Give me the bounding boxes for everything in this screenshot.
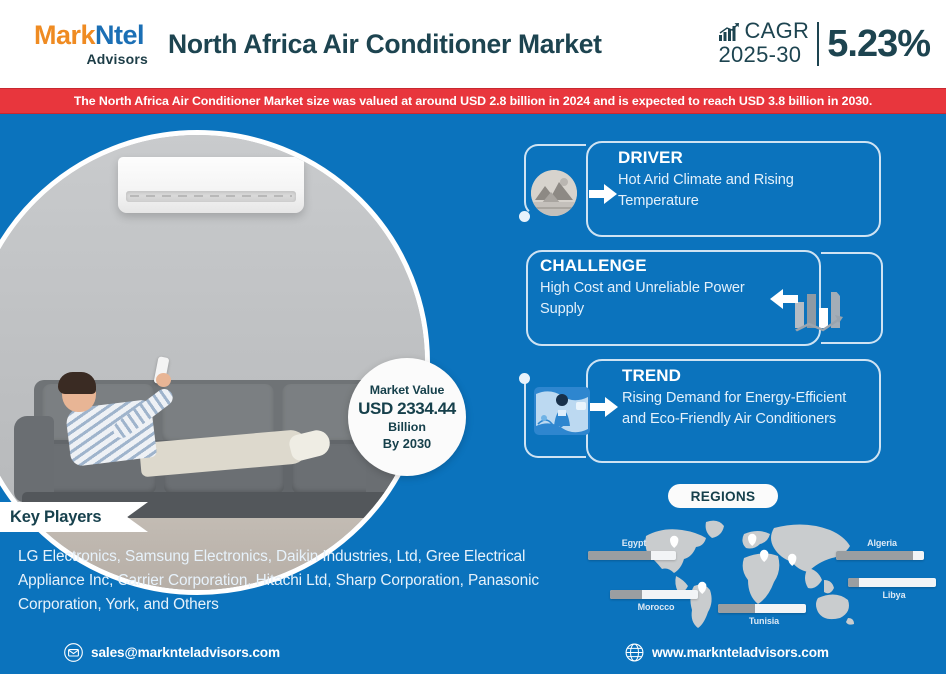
region-bar-fill — [588, 551, 651, 560]
region-egypt[interactable]: Egypt — [588, 538, 680, 560]
air-conditioner-vent — [126, 191, 296, 202]
trend-text-group: TREND Rising Demand for Energy-Efficient… — [622, 366, 874, 429]
region-bar-fill — [718, 604, 755, 613]
logo[interactable]: MarkNtel Advisors — [0, 21, 152, 66]
driver-text-group: DRIVER Hot Arid Climate and Rising Tempe… — [618, 148, 868, 211]
region-bar-fill — [610, 590, 642, 599]
footer-website[interactable]: www.marknteladvisors.com — [625, 643, 829, 662]
market-value-label: Market Value — [370, 383, 445, 397]
challenge-text-group: CHALLENGE High Cost and Unreliable Power… — [540, 256, 790, 319]
energy-efficiency-illustration-icon — [532, 384, 592, 438]
driver-heading: DRIVER — [618, 148, 868, 168]
region-bar-fill — [836, 551, 913, 560]
trend-heading: TREND — [622, 366, 874, 386]
region-algeria[interactable]: Algeria — [836, 538, 928, 560]
logo-part-mark: Mark — [34, 20, 95, 50]
trend-connector-dot — [519, 373, 530, 384]
footer: sales@marknteladvisors.com www.markntela… — [0, 632, 946, 674]
regions-map: Egypt Algeria Morocco Tunisia Libya — [570, 512, 946, 634]
person-hair — [58, 372, 96, 394]
trend-body: Rising Demand for Energy-Efficient and E… — [622, 388, 874, 429]
header: MarkNtel Advisors North Africa Air Condi… — [0, 0, 946, 88]
cagr-value: 5.23% — [827, 23, 930, 66]
market-value-unit: Billion — [388, 420, 426, 434]
cagr-period: 2025-30 — [718, 43, 801, 67]
arrow-right-icon — [589, 184, 617, 204]
regions-title-pill: REGIONS — [668, 484, 778, 508]
page-title: North Africa Air Conditioner Market — [152, 29, 718, 60]
market-size-banner: The North Africa Air Conditioner Market … — [0, 88, 946, 114]
region-label: Tunisia — [718, 616, 810, 626]
market-value-amount: USD 2334.44 — [358, 399, 456, 419]
region-label: Morocco — [610, 602, 702, 612]
logo-wordmark: MarkNtel — [34, 21, 144, 49]
globe-icon — [625, 643, 644, 662]
region-libya[interactable]: Libya — [848, 578, 940, 600]
arrow-right-icon — [590, 397, 618, 417]
key-players-list: LG Electronics, Samsung Electronics, Dai… — [18, 545, 568, 617]
cagr-divider — [817, 22, 819, 66]
region-tunisia[interactable]: Tunisia — [718, 604, 810, 626]
market-value-year: By 2030 — [383, 436, 431, 451]
cagr-label: CAGR — [744, 20, 809, 42]
sofa-arm-left — [14, 416, 54, 502]
region-bar-fill — [848, 578, 859, 587]
driver-connector-dot — [519, 211, 530, 222]
key-players-tag: Key Players — [0, 502, 148, 532]
logo-part-ntel: Ntel — [95, 20, 144, 50]
footer-website-text: www.marknteladvisors.com — [652, 645, 829, 660]
region-bar[interactable] — [848, 578, 936, 587]
cagr-label-row: CAGR — [718, 20, 809, 42]
cagr-label-group: CAGR 2025-30 — [718, 20, 809, 67]
market-size-banner-text: The North Africa Air Conditioner Market … — [74, 94, 872, 108]
region-bar[interactable] — [610, 590, 698, 599]
driver-body: Hot Arid Climate and Rising Temperature — [618, 170, 868, 211]
key-players-tag-label: Key Players — [10, 508, 101, 527]
region-label: Algeria — [836, 538, 928, 548]
cagr-block: CAGR 2025-30 5.23% — [718, 20, 946, 67]
region-label: Libya — [848, 590, 940, 600]
regions-title: REGIONS — [691, 489, 756, 504]
desert-climate-icon — [531, 170, 577, 216]
footer-email[interactable]: sales@marknteladvisors.com — [64, 643, 280, 662]
region-bar[interactable] — [836, 551, 924, 560]
challenge-body: High Cost and Unreliable Power Supply — [540, 278, 790, 319]
region-bar[interactable] — [588, 551, 676, 560]
footer-email-text: sales@marknteladvisors.com — [91, 645, 280, 660]
region-bar[interactable] — [718, 604, 806, 613]
person-hand — [156, 373, 171, 387]
region-morocco[interactable]: Morocco — [610, 590, 702, 612]
bar-chart-up-icon — [718, 22, 740, 42]
air-conditioner-unit — [118, 157, 304, 213]
envelope-icon — [64, 643, 83, 662]
logo-subtitle: Advisors — [86, 51, 152, 67]
market-value-badge: Market Value USD 2334.44 Billion By 2030 — [348, 358, 466, 476]
challenge-heading: CHALLENGE — [540, 256, 790, 276]
region-label: Egypt — [588, 538, 680, 548]
